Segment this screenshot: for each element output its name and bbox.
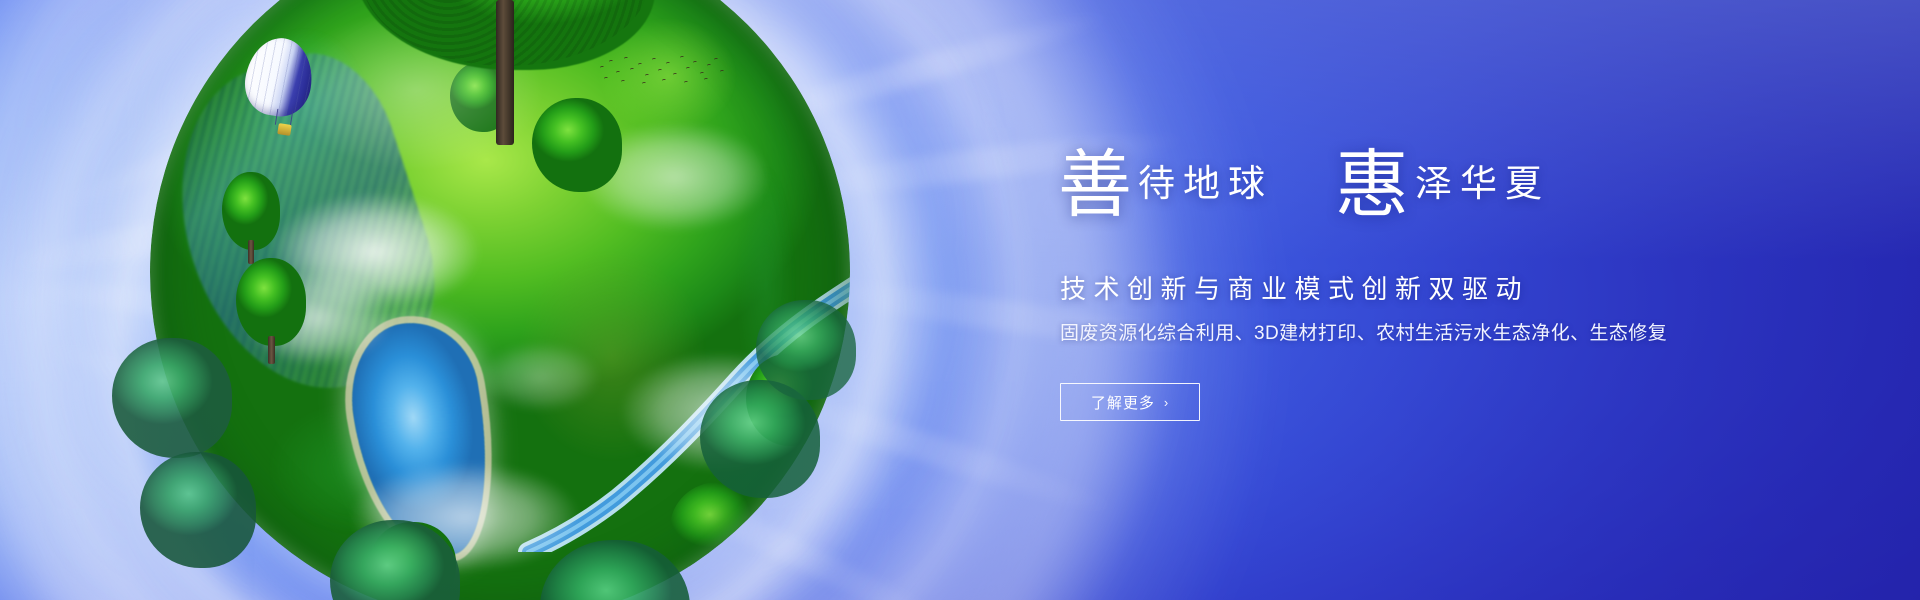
outer-tree-bottom bbox=[540, 540, 690, 600]
balloon-basket bbox=[277, 123, 292, 136]
balloon-envelope bbox=[240, 33, 317, 120]
bird-flock-icon bbox=[596, 52, 726, 92]
banner-content: 善待地球 惠泽华夏 技术创新与商业模式创新双驱动 固废资源化综合利用、3D建材打… bbox=[1058, 0, 1778, 600]
outer-tree-right bbox=[756, 300, 856, 420]
subtitle: 技术创新与商业模式创新双驱动 bbox=[1060, 269, 1529, 306]
headline-phrase-1-lead: 善 bbox=[1058, 142, 1132, 228]
headline-phrase-1-rest: 待地球 bbox=[1138, 162, 1273, 205]
outer-tree-left bbox=[140, 452, 256, 592]
headline-phrase-2: 惠泽华夏 bbox=[1335, 148, 1550, 222]
learn-more-label: 了解更多 bbox=[1091, 392, 1155, 413]
learn-more-button[interactable]: 了解更多 › bbox=[1060, 383, 1200, 421]
headline-phrase-1: 善待地球 bbox=[1058, 148, 1273, 222]
outer-tree-bottom bbox=[330, 520, 460, 600]
headline: 善待地球 惠泽华夏 bbox=[1058, 148, 1758, 240]
headline-phrase-2-lead: 惠 bbox=[1335, 142, 1409, 228]
hot-air-balloon bbox=[246, 38, 312, 142]
hero-banner: 善待地球 惠泽华夏 技术创新与商业模式创新双驱动 固废资源化综合利用、3D建材打… bbox=[0, 0, 1920, 600]
chevron-right-icon: › bbox=[1164, 396, 1169, 409]
top-tree-trunk bbox=[496, 0, 514, 145]
headline-phrase-2-rest: 泽华夏 bbox=[1415, 162, 1550, 205]
description: 固废资源化综合利用、3D建材打印、农村生活污水生态净化、生态修复 bbox=[1060, 318, 1667, 345]
